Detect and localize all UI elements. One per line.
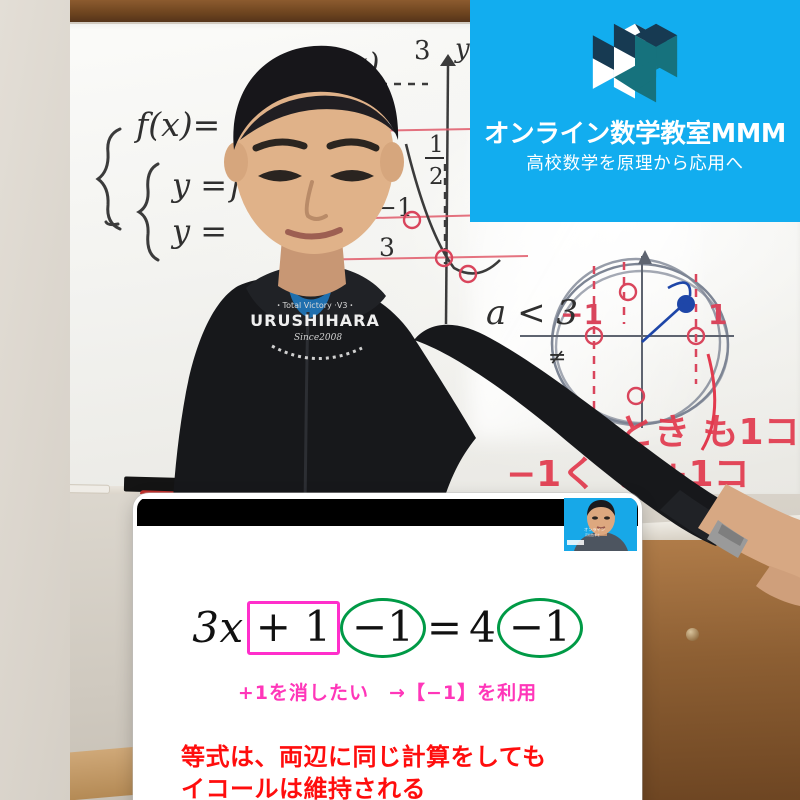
screenshot-root: f(x)= a y = f(x y = y = f(x) 3 y 1 2 −1 … (0, 0, 800, 800)
webcam-pip-thumbnail[interactable]: オンライン 高校数学を (564, 498, 637, 551)
slide-content: 3x + 1 −1 = 4 −1 +1を消したい →【−1】を利用 等式は、両辺… (137, 526, 638, 800)
conclusion-text: 等式は、両辺に同じ計算をしても イコールは維持される (181, 742, 547, 800)
equation-equals-sign: = (426, 607, 463, 649)
equation-circled-minus-one-right: −1 (497, 598, 583, 658)
equation-circled-minus-one-left: −1 (340, 598, 426, 658)
equation-boxed-plus-one: + 1 (247, 601, 340, 655)
equation-lhs-coefficient: 3x (192, 607, 245, 649)
svg-text:URUSHIHARA: URUSHIHARA (250, 311, 380, 330)
svg-text:・Total Victory ·V3・: ・Total Victory ·V3・ (275, 301, 356, 310)
conclusion-line-2: イコールは維持される (181, 774, 547, 800)
equation-row: 3x + 1 −1 = 4 −1 (137, 598, 638, 658)
brand-badge: オンライン数学教室MMM 高校数学を原理から応用へ (470, 0, 800, 222)
brand-subtitle: 高校数学を原理から応用へ (526, 155, 743, 174)
screen-share-slide-panel[interactable]: オンライン 高校数学を 3x + 1 −1 = 4 −1 +1を消したい →【−… (133, 493, 642, 800)
svg-text:Since2008: Since2008 (294, 333, 342, 343)
equation-rhs-value: 4 (463, 607, 497, 649)
conclusion-line-1: 等式は、両辺に同じ計算をしても (181, 742, 547, 774)
svg-text:高校数学を: 高校数学を (585, 532, 600, 537)
hint-line: +1を消したい →【−1】を利用 (137, 678, 638, 705)
brand-title: オンライン数学教室MMM (484, 120, 786, 148)
slide-top-black-bar (137, 499, 638, 526)
isometric-cross-cube-logo (587, 18, 683, 110)
